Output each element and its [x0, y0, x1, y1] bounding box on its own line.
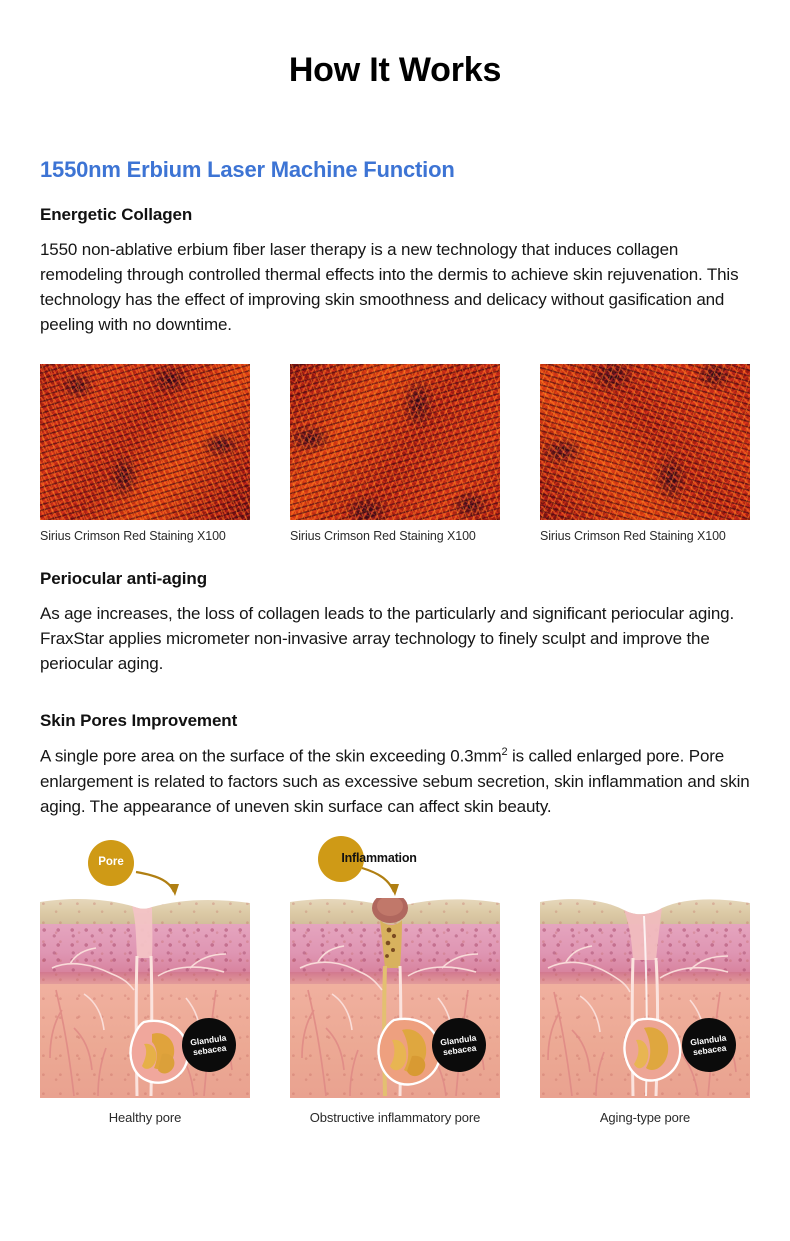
skin-caption-3: Aging-type pore: [540, 1110, 750, 1125]
skin-diagram-row: Pore: [40, 826, 750, 1098]
micrograph-caption-3: Sirius Crimson Red Staining X100: [540, 529, 750, 543]
micrograph-caption-1: Sirius Crimson Red Staining X100: [40, 529, 250, 543]
micrograph-figure-3: Sirius Crimson Red Staining X100: [540, 364, 750, 543]
micrograph-figure-2: Sirius Crimson Red Staining X100: [290, 364, 500, 543]
micrograph-speckle-layer-1: [40, 364, 250, 520]
skin-diagram-1: Pore: [40, 826, 250, 1098]
paragraph-energetic-collagen: 1550 non-ablative erbium fiber laser the…: [40, 238, 750, 338]
skin-caption-row: Healthy pore Obstructive inflammatory po…: [40, 1110, 750, 1125]
skin-caption-1: Healthy pore: [40, 1110, 250, 1125]
skin-cross-section-3: Glandula sebacea: [540, 898, 750, 1098]
skin-callout-area-3: [540, 826, 750, 898]
micrograph-row: Sirius Crimson Red Staining X100 Sirius …: [40, 364, 750, 543]
pore-arrow-icon: [40, 826, 250, 898]
micrograph-image-1: [40, 364, 250, 520]
micrograph-caption-2: Sirius Crimson Red Staining X100: [290, 529, 500, 543]
callout-badge-pore: Pore: [88, 840, 134, 886]
callout-badge-pore-label: Pore: [98, 857, 124, 869]
micrograph-speckle-layer-3: [540, 364, 750, 520]
micrograph-figure-1: Sirius Crimson Red Staining X100: [40, 364, 250, 543]
callout-badge-inflammation-label: Inflammation: [341, 852, 416, 865]
skin-callout-area-1: Pore: [40, 826, 250, 898]
page-title-container: How It Works: [0, 0, 790, 113]
section-heading: 1550nm Erbium Laser Machine Function: [40, 157, 750, 183]
paragraph-pores-part1: A single pore area on the surface of the…: [40, 747, 501, 766]
subheading-energetic-collagen: Energetic Collagen: [40, 205, 750, 225]
paragraph-skin-pores-improvement: A single pore area on the surface of the…: [40, 744, 750, 820]
skin-caption-2: Obstructive inflammatory pore: [290, 1110, 500, 1125]
skin-diagram-2: Inflammation: [290, 826, 500, 1098]
page-title-text: How It Works: [289, 51, 501, 89]
callout-badge-inflammation: Inflammation: [318, 836, 364, 882]
skin-callout-area-2: Inflammation: [290, 826, 500, 898]
micrograph-image-3: [540, 364, 750, 520]
subheading-skin-pores-improvement: Skin Pores Improvement: [40, 711, 750, 731]
skin-cross-section-1: Glandula sebacea: [40, 898, 250, 1098]
content-column: 1550nm Erbium Laser Machine Function Ene…: [0, 157, 790, 1125]
skin-cross-section-2: Glandula sebacea: [290, 898, 500, 1098]
micrograph-image-2: [290, 364, 500, 520]
paragraph-periocular-anti-aging: As age increases, the loss of collagen l…: [40, 602, 750, 677]
micrograph-speckle-layer-2: [290, 364, 500, 520]
subheading-periocular-anti-aging: Periocular anti-aging: [40, 569, 750, 589]
page-title: How It Works: [281, 53, 509, 91]
skin-diagram-3: Glandula sebacea: [540, 826, 750, 1098]
